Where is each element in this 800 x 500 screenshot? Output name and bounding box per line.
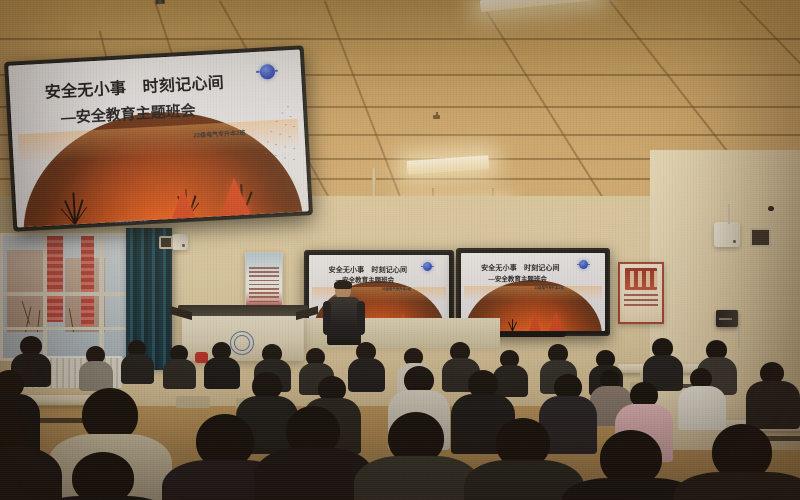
slide-class-label: 22级电气专升本2班 xyxy=(382,286,411,291)
blue-atom-logo-icon xyxy=(579,260,588,269)
poster-right xyxy=(618,262,664,324)
slide-teepee xyxy=(219,176,251,216)
wall-control-box xyxy=(716,310,738,327)
slide-class-label: 22级电气专升本2班 xyxy=(534,285,563,290)
slide-teepee xyxy=(170,188,196,219)
wall-speaker xyxy=(714,222,740,247)
slide-tree xyxy=(59,190,87,225)
slide-subtitle: —安全教育主题班会 xyxy=(488,273,547,283)
slide-main: 安全无小事 时刻记心间 —安全教育主题班会 22级电气专升本2班 xyxy=(8,49,309,227)
chair-back xyxy=(176,396,210,408)
window-view-building xyxy=(47,236,63,322)
display-ceiling-mount xyxy=(154,0,165,4)
slide-dot-pattern xyxy=(239,102,300,167)
wall-speaker-left xyxy=(172,234,188,250)
slide-title: 安全无小事 时刻记心间 xyxy=(44,68,225,102)
presenter xyxy=(326,281,362,343)
wall-vent xyxy=(750,228,771,247)
ceiling-camera xyxy=(768,206,774,211)
blue-atom-logo-icon xyxy=(259,64,275,80)
classroom-photo: 安全无小事 时刻记心间 —安全教育主题班会 22级电气专升本2班 安全无小事 时… xyxy=(0,0,800,500)
ceiling-sprinkler xyxy=(433,115,440,119)
main-overhead-display[interactable]: 安全无小事 时刻记心间 —安全教育主题班会 22级电气专升本2班 智慧黑板 教学… xyxy=(4,45,313,231)
wall-vent-left xyxy=(159,236,173,249)
blue-atom-logo-icon xyxy=(423,262,432,271)
school-crest-icon xyxy=(230,331,254,355)
